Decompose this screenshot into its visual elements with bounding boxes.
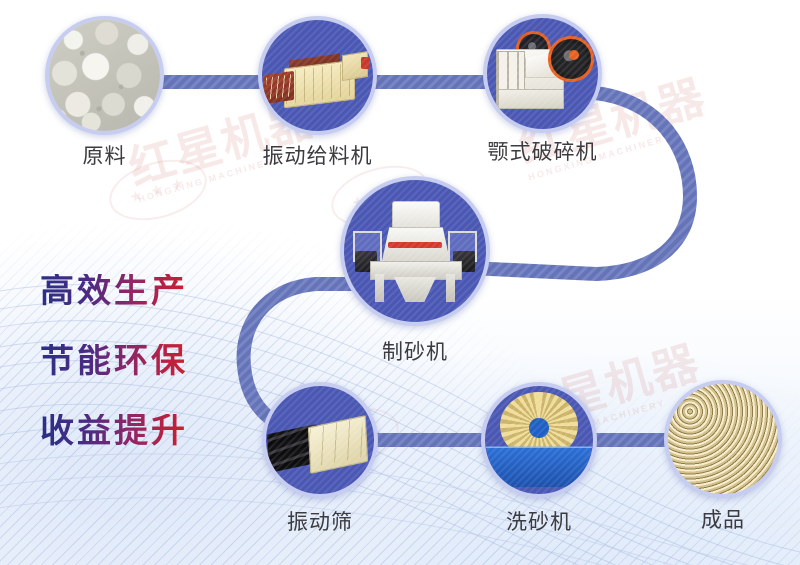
watermark-stars: ★ ★ ★ [127, 173, 188, 206]
slogan-line-2: 节能环保 [40, 344, 188, 378]
flow-node-label-sand-maker: 制砂机 [305, 336, 525, 366]
vibrating-screen-disc[interactable] [262, 382, 378, 498]
feeder-hopper-bars [266, 74, 292, 100]
finished-sand-icon [668, 384, 778, 494]
flow-diagram-canvas: 红星机器 HONGXING MACHINERY ★ ★ ★ 红星机器 HONGX… [0, 0, 800, 565]
flow-node-label-vibrating-feeder: 振动给料机 [208, 140, 428, 170]
pebbles-icon [49, 20, 160, 131]
washer-tank [481, 446, 597, 487]
flow-node-sand-maker[interactable]: 制砂机 [340, 176, 490, 326]
vsi-discharge-hopper [394, 277, 437, 303]
flow-node-label-finished-product: 成品 [613, 504, 800, 534]
slogan-block: 高效生产 节能环保 收益提升 [40, 274, 188, 448]
flow-node-vibrating-feeder[interactable]: 振动给料机 [258, 16, 377, 135]
vsi-leg-right [446, 274, 455, 302]
flow-node-label-vibrating-screen: 振动筛 [210, 506, 430, 536]
vibrating-screen-icon [266, 386, 374, 494]
jaw-crusher-disc[interactable] [483, 14, 602, 133]
flow-node-finished-product[interactable]: 成品 [664, 380, 782, 498]
feeder-motor-cap [361, 57, 370, 69]
sand-washer-disc[interactable] [481, 382, 597, 498]
vibrating-feeder-disc[interactable] [258, 16, 377, 135]
sand-maker-disc[interactable] [340, 176, 490, 326]
slogan-line-1: 高效生产 [40, 274, 188, 308]
jaw-crusher-icon [487, 18, 598, 129]
jaw-base [498, 89, 564, 109]
flow-node-sand-washer[interactable]: 洗砂机 [481, 382, 597, 498]
vsi-red-band [388, 242, 442, 248]
sand-maker-icon [344, 180, 486, 322]
slogan-line-3: 收益提升 [40, 414, 188, 448]
flow-node-label-jaw-crusher: 颚式破碎机 [433, 136, 653, 166]
washer-wheel-hub [529, 418, 548, 437]
raw-material-disc[interactable] [45, 16, 164, 135]
flow-node-raw-material[interactable]: 原料 [45, 16, 164, 135]
flow-node-jaw-crusher[interactable]: 颚式破碎机 [483, 14, 602, 133]
vibrating-feeder-icon [262, 20, 373, 131]
flow-node-vibrating-screen[interactable]: 振动筛 [262, 382, 378, 498]
sand-washer-icon [485, 386, 593, 494]
vsi-leg-left [375, 274, 384, 302]
flow-node-label-raw-material: 原料 [0, 140, 215, 170]
finished-product-disc[interactable] [664, 380, 782, 498]
